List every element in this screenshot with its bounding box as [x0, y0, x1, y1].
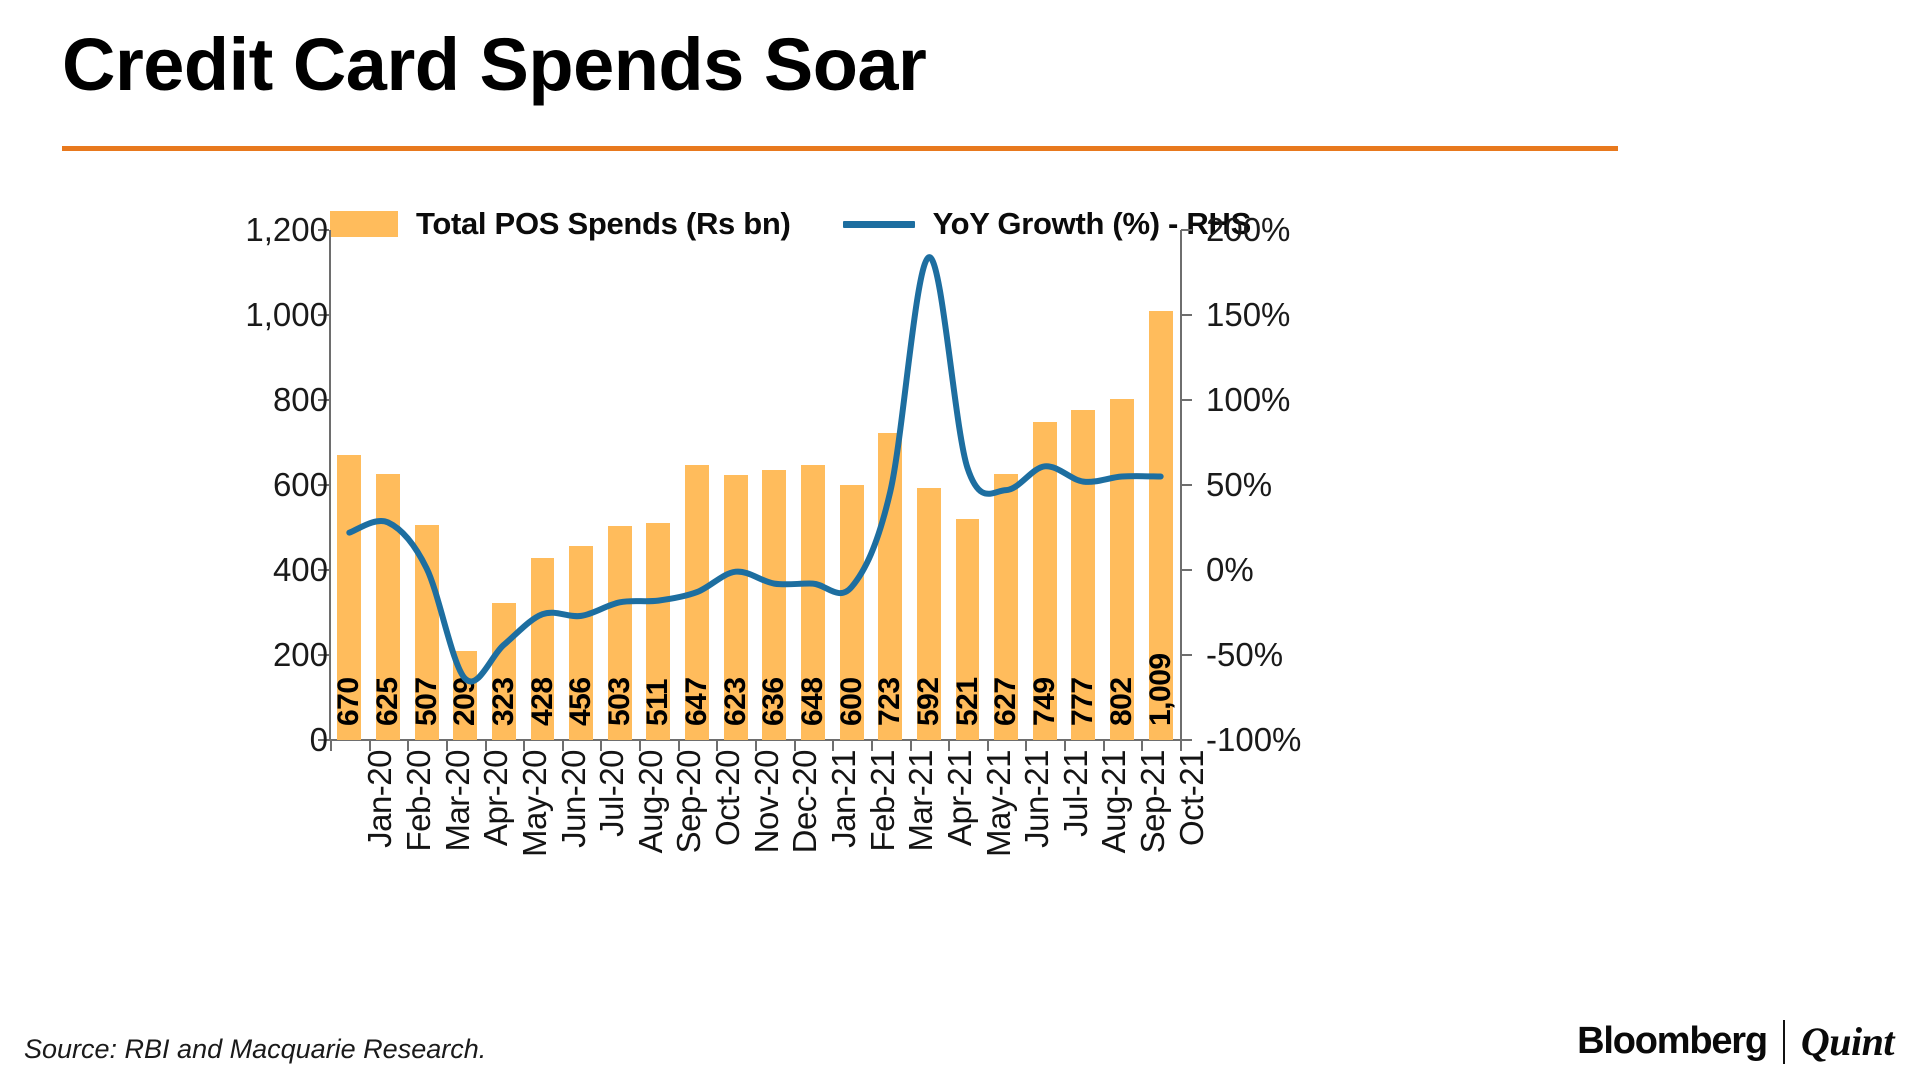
- left-axis-tick-label: 200: [273, 636, 328, 674]
- right-tick: [1181, 314, 1192, 316]
- logo-divider: [1783, 1020, 1785, 1064]
- page-title: Credit Card Spends Soar: [62, 22, 926, 107]
- x-axis-label: Aug-21: [1095, 750, 1133, 853]
- bloomberg-quint-logo: Bloomberg Quint: [1577, 1018, 1894, 1065]
- right-axis-tick-label: 200%: [1206, 211, 1290, 249]
- x-axis-label: Jun-21: [1018, 750, 1056, 848]
- right-tick: [1181, 484, 1192, 486]
- x-axis-label: Oct-20: [709, 750, 747, 846]
- slide-root: Credit Card Spends Soar Total POS Spends…: [0, 0, 1920, 1080]
- x-axis-label: Dec-20: [786, 750, 824, 853]
- right-tick: [1181, 739, 1192, 741]
- x-axis-label: Mar-21: [902, 750, 940, 852]
- source-note: Source: RBI and Macquarie Research.: [24, 1034, 486, 1065]
- logo-quint-text: Quint: [1801, 1018, 1894, 1065]
- x-axis-label: Aug-20: [632, 750, 670, 853]
- right-axis-tick-label: -50%: [1206, 636, 1283, 674]
- x-axis-label: May-20: [516, 750, 554, 857]
- right-tick: [1181, 399, 1192, 401]
- left-axis-tick-label: 600: [273, 466, 328, 504]
- right-axis-tick-label: -100%: [1206, 721, 1301, 759]
- right-tick: [1181, 654, 1192, 656]
- x-axis-category-labels: Jan-20Feb-20Mar-20Apr-20May-20Jun-20Jul-…: [330, 750, 1180, 930]
- yoy-growth-line-path: [349, 257, 1160, 681]
- x-axis-label: May-21: [980, 750, 1018, 857]
- x-axis-label: Jan-20: [361, 750, 399, 848]
- right-tick: [1181, 569, 1192, 571]
- right-axis-tick-label: 100%: [1206, 381, 1290, 419]
- x-axis-label: Apr-20: [477, 750, 515, 846]
- right-axis-tick-label: 0%: [1206, 551, 1254, 589]
- left-axis-tick-label: 800: [273, 381, 328, 419]
- x-axis-label: Feb-21: [864, 750, 902, 852]
- left-axis-tick-label: 1,200: [245, 211, 328, 249]
- x-axis-label: Nov-20: [748, 750, 786, 853]
- line-swatch-icon: [843, 221, 915, 228]
- right-tick: [1181, 229, 1192, 231]
- right-axis-tick-label: 150%: [1206, 296, 1290, 334]
- left-axis-tick-label: 0: [310, 721, 328, 759]
- left-axis-tick-label: 400: [273, 551, 328, 589]
- x-axis-label: Oct-21: [1173, 750, 1211, 846]
- chart-plot-area: 1,2001,0008006004002000 200%150%100%50%0…: [330, 230, 1180, 740]
- x-axis-label: Jun-20: [555, 750, 593, 848]
- x-axis-label: Jan-21: [825, 750, 863, 848]
- x-axis-label: Jul-20: [593, 750, 631, 837]
- title-underline-rule: [62, 146, 1618, 151]
- left-axis-tick-label: 1,000: [245, 296, 328, 334]
- x-axis-label: Feb-20: [400, 750, 438, 852]
- x-axis-label: Sep-21: [1134, 750, 1172, 853]
- line-series: [330, 230, 1180, 740]
- x-axis-label: Jul-21: [1057, 750, 1095, 837]
- right-axis-tick-label: 50%: [1206, 466, 1272, 504]
- x-axis-label: Mar-20: [439, 750, 477, 852]
- x-axis-label: Apr-21: [941, 750, 979, 846]
- x-axis-label: Sep-20: [670, 750, 708, 853]
- logo-bloomberg-text: Bloomberg: [1577, 1020, 1767, 1063]
